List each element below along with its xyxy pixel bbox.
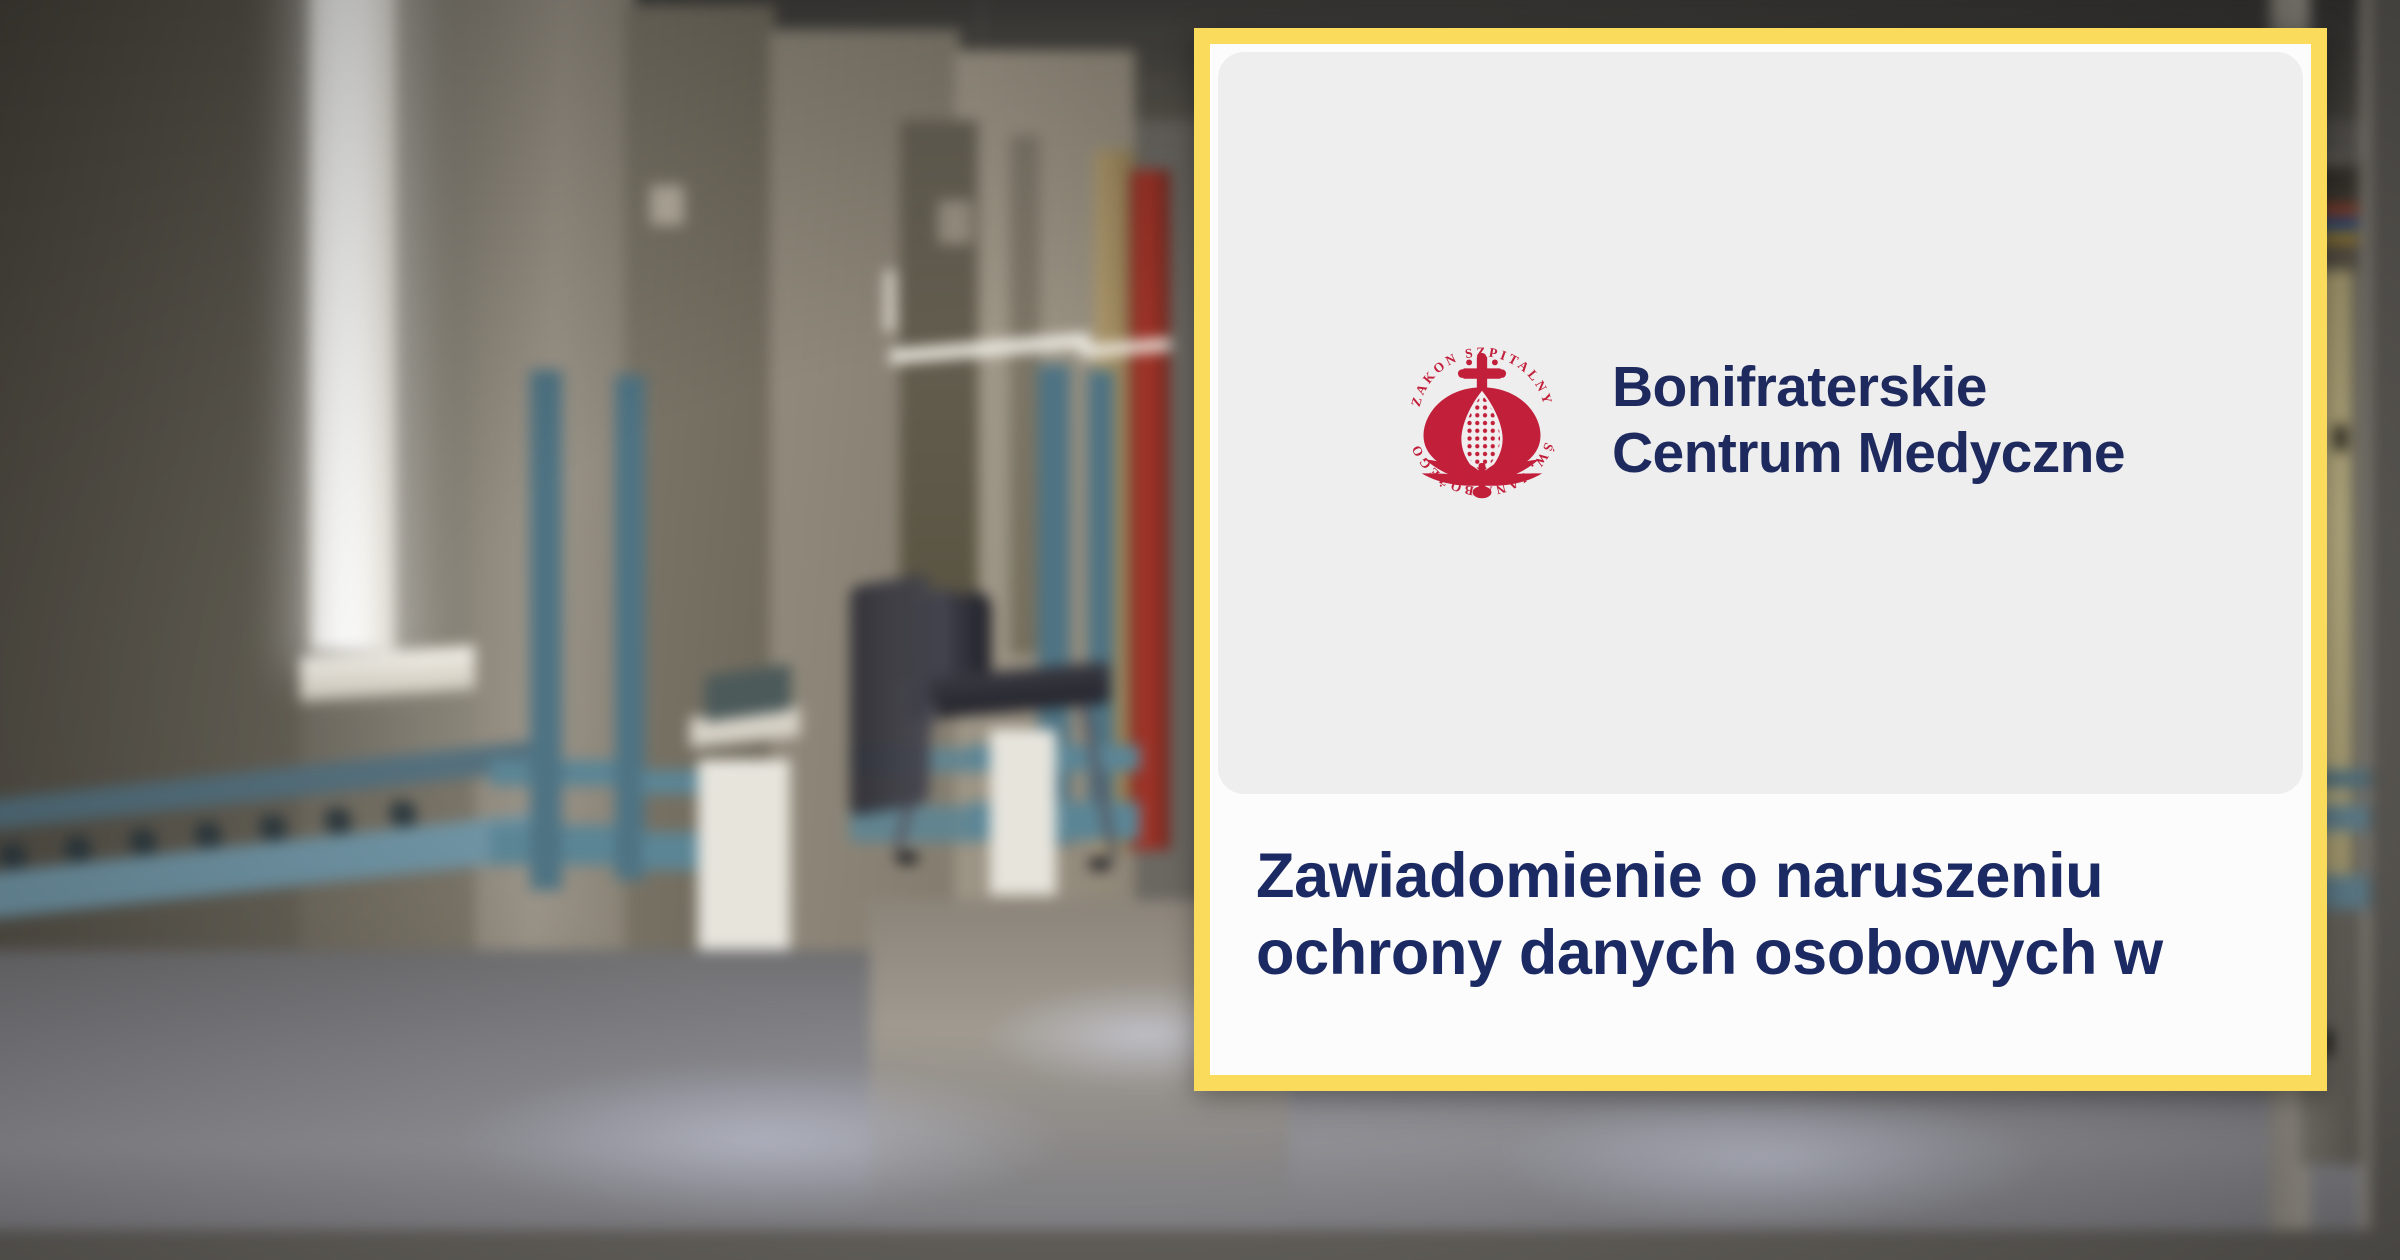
article-card[interactable]: ZAKON SZPITALNY ŚW. JANA BOŻEGO	[1194, 28, 2327, 1091]
brand-lockup: ZAKON SZPITALNY ŚW. JANA BOŻEGO	[1396, 334, 2125, 506]
article-card-inner: ZAKON SZPITALNY ŚW. JANA BOŻEGO	[1210, 44, 2311, 1075]
brand-name: Bonifraterskie Centrum Medyczne	[1612, 354, 2125, 486]
article-headline: Zawiadomienie o naruszeniu ochrony danyc…	[1210, 794, 2311, 992]
bonifratrzy-pomegranate-emblem-icon: ZAKON SZPITALNY ŚW. JANA BOŻEGO	[1396, 334, 1568, 506]
article-media-panel: ZAKON SZPITALNY ŚW. JANA BOŻEGO	[1218, 52, 2303, 794]
